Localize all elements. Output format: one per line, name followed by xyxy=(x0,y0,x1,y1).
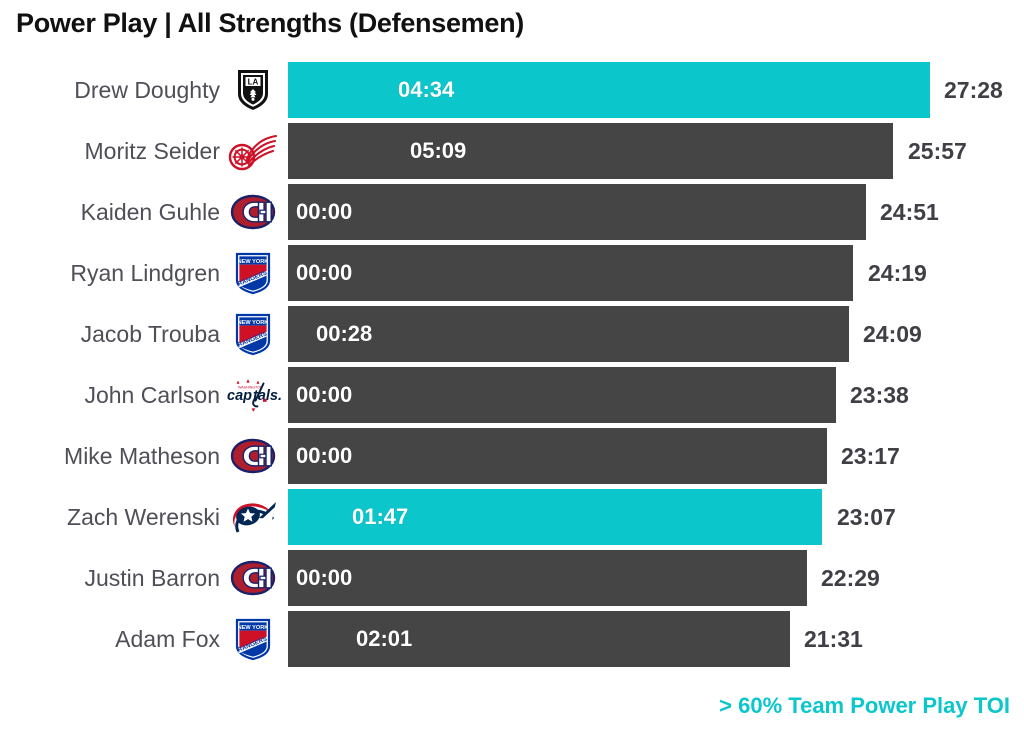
power-play-toi-label: 04:34 xyxy=(398,62,454,118)
player-name-label: John Carlson xyxy=(84,367,220,423)
svg-text:NEW YORK: NEW YORK xyxy=(238,625,269,631)
bar-rows-container: Drew Doughty LA 04:3427:28Moritz Seider … xyxy=(0,62,1024,672)
player-name-label: Moritz Seider xyxy=(85,123,220,179)
canadiens-logo xyxy=(229,559,277,597)
total-toi-value: 24:09 xyxy=(863,306,922,362)
total-toi-value: 25:57 xyxy=(908,123,967,179)
power-play-toi-label: 05:09 xyxy=(410,123,466,179)
power-play-toi-label: 00:00 xyxy=(296,367,352,423)
player-name-label: Drew Doughty xyxy=(74,62,220,118)
bar-row: Zach Werenski 01:4723:07 xyxy=(0,489,1024,550)
team-logo-nyr: NEW YORK RANGERS xyxy=(222,306,284,362)
power-play-toi-label: 01:47 xyxy=(352,489,408,545)
team-logo-mtl xyxy=(222,428,284,484)
rangers-logo: NEW YORK RANGERS xyxy=(234,617,272,661)
player-name-label: Ryan Lindgren xyxy=(70,245,220,301)
svg-text:LA: LA xyxy=(248,78,259,87)
bar-row: John Carlson WASHINGTON cap tals. 00:002… xyxy=(0,367,1024,428)
total-toi-value: 21:31 xyxy=(804,611,863,667)
power-play-toi-chart: Power Play | All Strengths (Defensemen) … xyxy=(0,0,1024,731)
total-toi-value: 23:38 xyxy=(850,367,909,423)
team-logo-det xyxy=(222,123,284,179)
team-logo-cbj xyxy=(222,489,284,545)
power-play-toi-label: 00:00 xyxy=(296,245,352,301)
svg-text:NEW YORK: NEW YORK xyxy=(238,320,269,326)
blue-jackets-logo xyxy=(228,496,278,538)
bar-row: Justin Barron 00:0022:29 xyxy=(0,550,1024,611)
canadiens-logo xyxy=(229,437,277,475)
team-logo-nyr: NEW YORK RANGERS xyxy=(222,245,284,301)
page-title: Power Play | All Strengths (Defensemen) xyxy=(16,8,524,39)
capitals-logo: WASHINGTON cap tals. xyxy=(222,375,284,415)
red-wings-logo xyxy=(227,131,279,171)
bar-row: Jacob Trouba NEW YORK RANGERS 00:2824:09 xyxy=(0,306,1024,367)
total-toi-value: 23:07 xyxy=(837,489,896,545)
legend-note: > 60% Team Power Play TOI xyxy=(719,693,1010,719)
toi-bar xyxy=(288,184,866,240)
bar-row: Adam Fox NEW YORK RANGERS 02:0121:31 xyxy=(0,611,1024,672)
total-toi-value: 23:17 xyxy=(841,428,900,484)
power-play-toi-label: 00:00 xyxy=(296,428,352,484)
rangers-logo: NEW YORK RANGERS xyxy=(234,312,272,356)
bar-row: Drew Doughty LA 04:3427:28 xyxy=(0,62,1024,123)
toi-bar xyxy=(288,245,853,301)
rangers-logo: NEW YORK RANGERS xyxy=(234,251,272,295)
player-name-label: Adam Fox xyxy=(115,611,220,667)
bar-row: Moritz Seider 05:0925:57 xyxy=(0,123,1024,184)
bar-row: Ryan Lindgren NEW YORK RANGERS 00:0024:1… xyxy=(0,245,1024,306)
player-name-label: Mike Matheson xyxy=(64,428,220,484)
toi-bar xyxy=(288,367,836,423)
bar-row: Mike Matheson 00:0023:17 xyxy=(0,428,1024,489)
team-logo-mtl xyxy=(222,184,284,240)
power-play-toi-label: 02:01 xyxy=(356,611,412,667)
team-logo-wsh: WASHINGTON cap tals. xyxy=(222,367,284,423)
team-logo-lak: LA xyxy=(222,62,284,118)
svg-text:cap: cap xyxy=(227,388,252,404)
toi-bar xyxy=(288,62,930,118)
total-toi-value: 27:28 xyxy=(944,62,1003,118)
canadiens-logo xyxy=(229,193,277,231)
team-logo-mtl xyxy=(222,550,284,606)
svg-text:NEW YORK: NEW YORK xyxy=(238,259,269,265)
total-toi-value: 24:19 xyxy=(868,245,927,301)
toi-bar xyxy=(288,123,893,179)
player-name-label: Zach Werenski xyxy=(67,489,220,545)
team-logo-nyr: NEW YORK RANGERS xyxy=(222,611,284,667)
player-name-label: Justin Barron xyxy=(84,550,220,606)
player-name-label: Kaiden Guhle xyxy=(81,184,220,240)
power-play-toi-label: 00:00 xyxy=(296,184,352,240)
toi-bar xyxy=(288,428,827,484)
power-play-toi-label: 00:00 xyxy=(296,550,352,606)
power-play-toi-label: 00:28 xyxy=(316,306,372,362)
total-toi-value: 22:29 xyxy=(821,550,880,606)
total-toi-value: 24:51 xyxy=(880,184,939,240)
toi-bar xyxy=(288,550,807,606)
bar-row: Kaiden Guhle 00:0024:51 xyxy=(0,184,1024,245)
kings-logo: LA xyxy=(235,68,271,112)
player-name-label: Jacob Trouba xyxy=(81,306,220,362)
